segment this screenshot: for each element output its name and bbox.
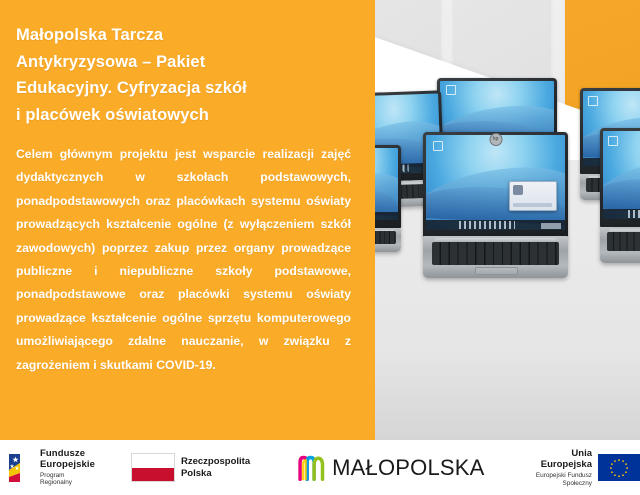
logo-fundusze-europejskie: Fundusze Europejskie Program Regionalny	[8, 449, 95, 486]
laptop-screen	[426, 135, 565, 230]
laptop-front-right	[600, 128, 640, 263]
taskbar-clock	[541, 223, 560, 229]
laptop-lid	[375, 145, 401, 228]
unia-europejska-text: Unia Europejska Europejski Fundusz Społe…	[531, 448, 592, 488]
laptop-keyboard	[432, 242, 560, 265]
fe-line-2: Europejskie	[40, 460, 95, 471]
recycle-bin-icon	[446, 85, 456, 95]
taskbar-icons	[628, 210, 640, 218]
laptop-lid: hp	[423, 132, 568, 238]
eu-flag-icon	[598, 454, 640, 481]
laptop-screen	[603, 131, 640, 219]
taskbar-icons	[459, 221, 515, 230]
rp-line-2: Polska	[181, 468, 250, 479]
desk-surface	[375, 360, 640, 440]
laptop-keyboard	[607, 232, 640, 251]
project-description: Celem głównym projektu jest wsparcie rea…	[16, 143, 355, 377]
logo-rzeczpospolita-polska: Rzeczpospolita Polska	[131, 453, 250, 482]
rp-line-1: Rzeczpospolita	[181, 456, 250, 467]
flag-red-band	[132, 468, 174, 482]
recycle-bin-icon	[433, 141, 443, 151]
windows-dialog	[509, 181, 557, 212]
recycle-bin-icon	[588, 96, 598, 106]
fe-subtitle: Program Regionalny	[40, 472, 95, 486]
title-line-2: Antykryzysowa – Pakiet	[16, 49, 355, 76]
laptop-screen	[375, 148, 398, 220]
fundusze-europejskie-icon	[8, 453, 34, 483]
text-panel: Małopolska Tarcza Antykryzysowa – Pakiet…	[0, 0, 375, 440]
malopolska-m-icon	[298, 455, 326, 481]
fundusze-europejskie-text: Fundusze Europejskie Program Regionalny	[40, 449, 95, 486]
poster-slide: hp Małopolska Tarcza Antykryzysowa – Pak…	[0, 0, 640, 495]
title-line-4: i placówek oświatowych	[16, 102, 355, 129]
laptop-front-center: hp	[423, 132, 568, 278]
rzeczpospolita-text: Rzeczpospolita Polska	[181, 456, 250, 479]
hp-brand-icon: hp	[489, 133, 502, 146]
title-line-1: Małopolska Tarcza	[16, 22, 355, 49]
poland-flag-icon	[131, 453, 175, 482]
laptop-front-left	[375, 145, 401, 252]
taskbar	[375, 212, 398, 220]
laptop-trackpad	[475, 267, 518, 276]
recycle-bin-icon	[608, 136, 618, 146]
logo-malopolska: MAŁOPOLSKA	[298, 455, 484, 481]
laptops-photo: hp	[375, 0, 640, 440]
laptop-keyboard	[375, 231, 396, 244]
logo-unia-europejska: Unia Europejska Europejski Fundusz Społe…	[531, 448, 640, 488]
footer-logo-bar: Fundusze Europejskie Program Regionalny …	[0, 440, 640, 495]
ue-line-1: Unia Europejska	[531, 448, 592, 471]
malopolska-wordmark: MAŁOPOLSKA	[332, 455, 484, 481]
laptop-base	[600, 227, 640, 263]
eu-stars	[598, 454, 640, 481]
ue-subtitle: Europejski Fundusz Społeczny	[531, 472, 592, 487]
laptop-base	[375, 228, 401, 252]
fe-line-1: Fundusze	[40, 449, 95, 460]
flag-white-band	[132, 454, 174, 468]
title-line-3: Edukacyjny. Cyfryzacja szkół	[16, 75, 355, 102]
page-title: Małopolska Tarcza Antykryzysowa – Pakiet…	[16, 22, 355, 129]
laptop-base	[423, 236, 568, 278]
laptop-lid	[600, 128, 640, 227]
